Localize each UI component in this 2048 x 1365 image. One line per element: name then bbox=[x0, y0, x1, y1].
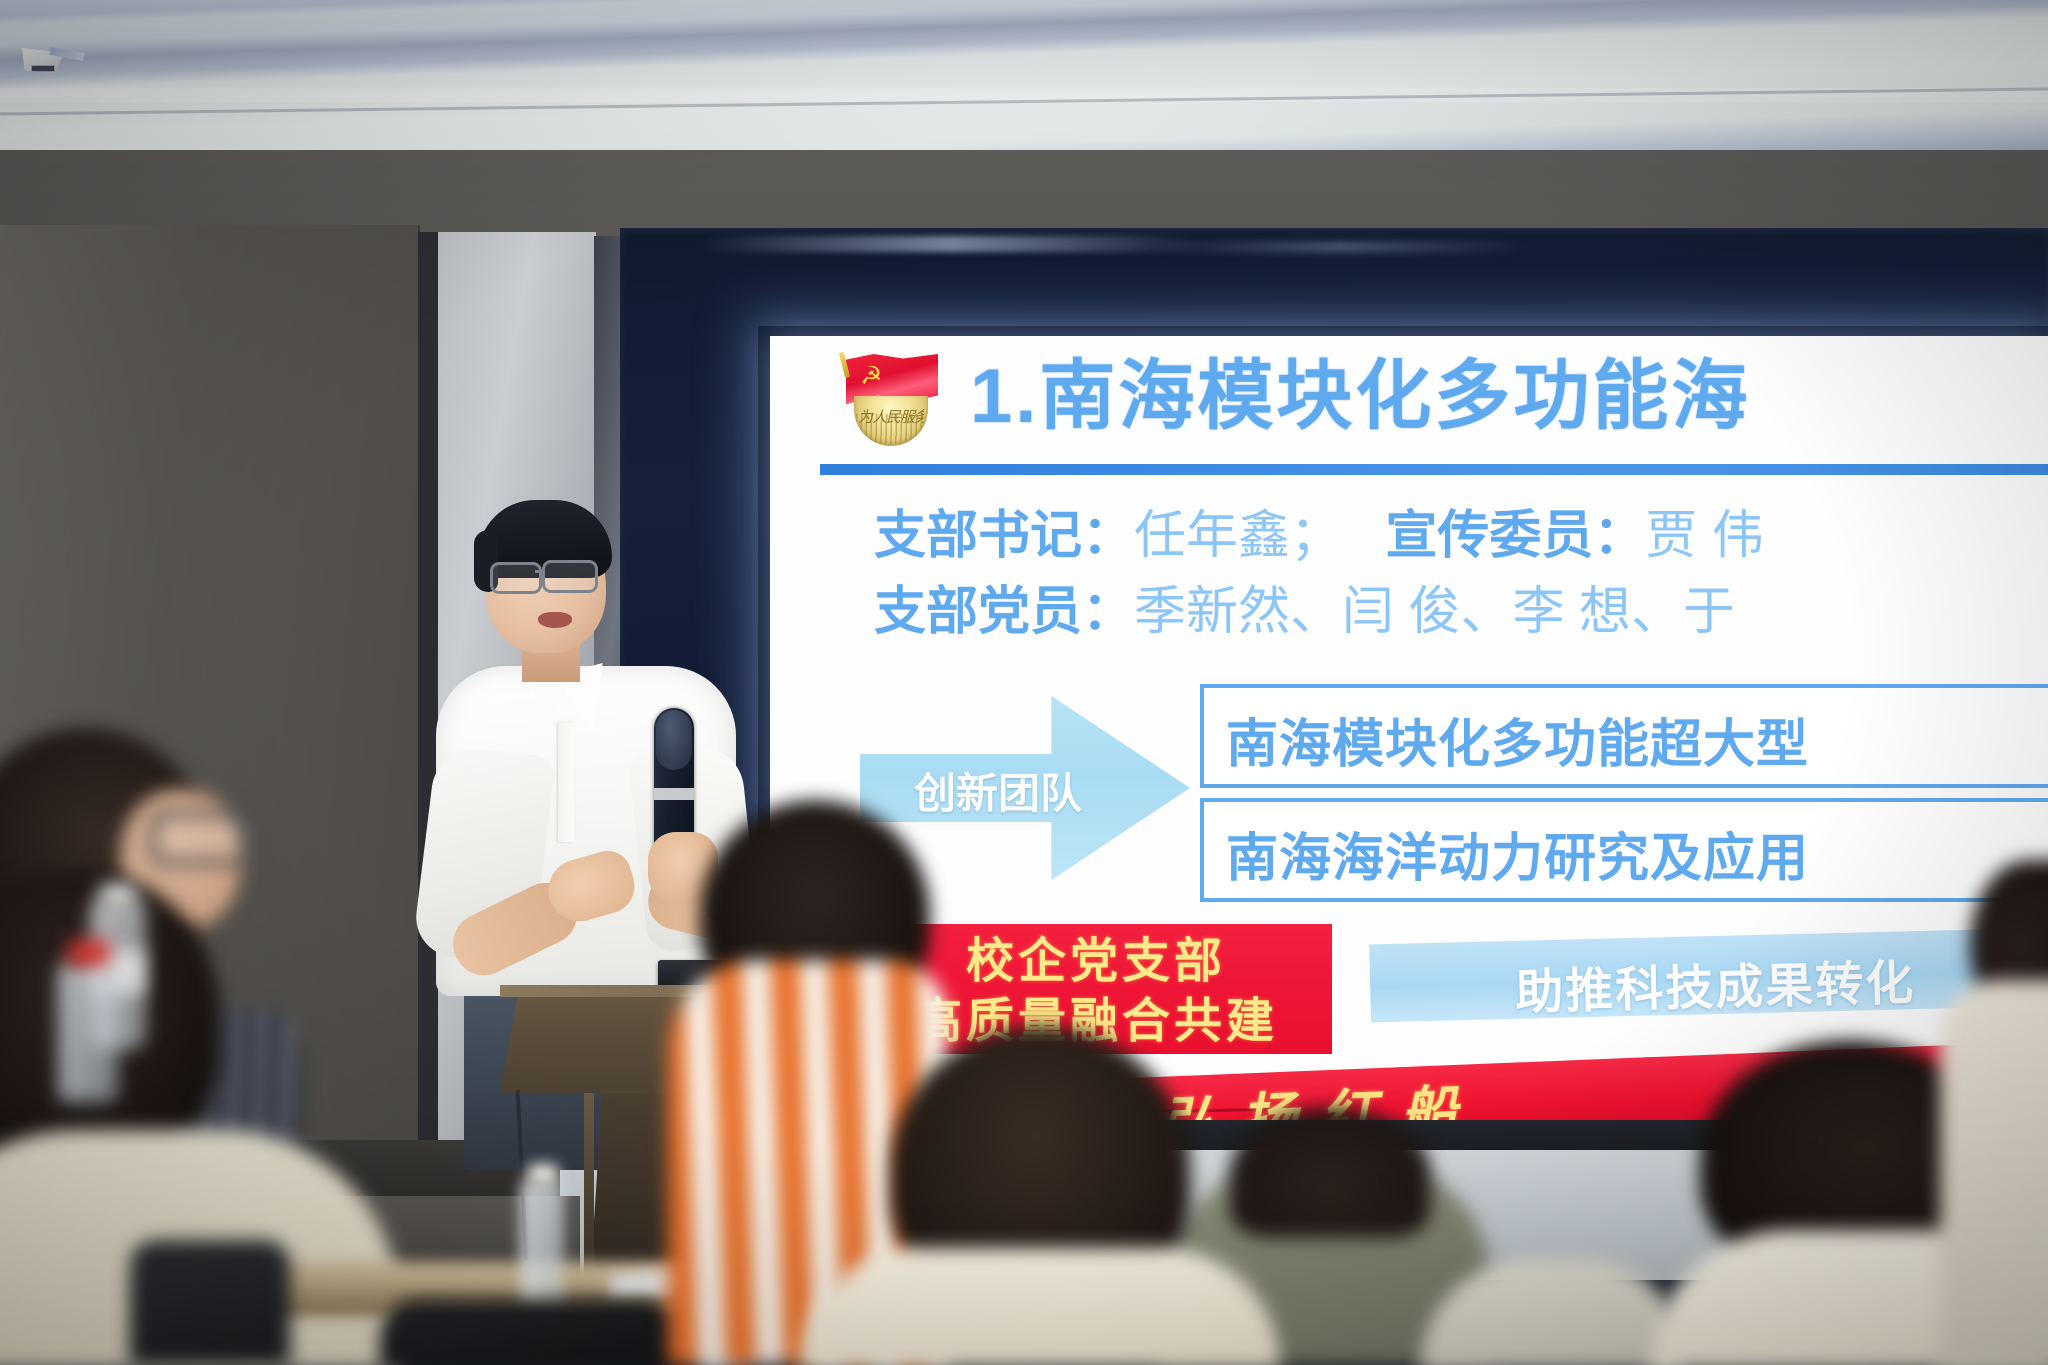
topic-box-1-text: 南海模块化多功能超大型 bbox=[1226, 702, 1809, 777]
audience-shirt-center-2 bbox=[800, 1248, 1280, 1365]
roster-value-secretary: 任年鑫； bbox=[1134, 507, 1342, 565]
eyeglasses-left-lens-icon bbox=[490, 562, 542, 594]
blue-banner-block: 助推科技成果转化 bbox=[1369, 928, 2048, 1023]
audience-head-center-3 bbox=[1230, 1108, 1430, 1238]
presenter-mouth bbox=[538, 612, 572, 628]
roster-block: 支部书记：任年鑫； 宣传委员：贾 伟 支部党员：季新然、闫 俊、李 想、于 bbox=[874, 498, 2048, 650]
medal-script-text: 为人民服务 bbox=[858, 406, 924, 428]
topic-box-1: 南海模块化多功能超大型 bbox=[1200, 684, 2048, 788]
roster-label-publicity: 宣传委员： bbox=[1385, 507, 1645, 565]
roster-row-secretary: 支部书记：任年鑫； 宣传委员：贾 伟 bbox=[874, 498, 2048, 574]
housing-glint-secondary bbox=[1150, 242, 1530, 252]
cpc-party-emblem-flag-logo: ☭ 为人民服务 bbox=[834, 350, 942, 450]
roster-value-publicity: 贾 伟 bbox=[1645, 507, 1763, 565]
slide-title: 1.南海模块化多功能海 bbox=[970, 348, 1750, 446]
chair-left bbox=[130, 1240, 290, 1365]
eyeglasses-right-lens-icon bbox=[542, 560, 598, 593]
topic-box-2: 南海海洋动力研究及应用 bbox=[1200, 798, 2048, 902]
housing-glint bbox=[700, 236, 1200, 252]
roster-label-members: 支部党员： bbox=[874, 583, 1134, 641]
presenter-shirt-placket bbox=[558, 722, 574, 842]
topic-box-2-text: 南海海洋动力研究及应用 bbox=[1226, 816, 1809, 891]
water-bottle-table-1 bbox=[520, 1180, 564, 1310]
water-bottle-left-1-cap bbox=[100, 884, 136, 906]
podium-column-edge bbox=[584, 1090, 594, 1286]
microphone-grill bbox=[656, 710, 692, 770]
water-bottle-left-2-cap bbox=[68, 940, 110, 966]
water-bottle-left-2 bbox=[58, 962, 118, 1102]
roster-row-members: 支部党员：季新然、闫 俊、李 想、于 bbox=[874, 574, 2048, 650]
chair-center bbox=[380, 1300, 680, 1365]
hammer-sickle-icon: ☭ bbox=[860, 364, 888, 390]
title-underline-rule bbox=[820, 464, 2048, 475]
audience-eyeglasses-left-1-icon bbox=[150, 810, 254, 866]
roster-value-members: 季新然、闫 俊、李 想、于 bbox=[1134, 583, 1735, 641]
eyeglasses-bridge-icon bbox=[535, 570, 545, 573]
audience-body-right-3 bbox=[1940, 980, 2048, 1365]
screenshot-root: ☭ 为人民服务 1.南海模块化多功能海 支部书记：任年鑫； 宣传委员：贾 伟 支… bbox=[0, 0, 2048, 1365]
microphone-band bbox=[654, 788, 694, 800]
arrow-label: 创新团队 bbox=[898, 760, 1098, 821]
roster-label-secretary: 支部书记： bbox=[874, 507, 1134, 565]
water-bottle-table-1-cap bbox=[528, 1164, 558, 1184]
slide-title-row: ☭ 为人民服务 1.南海模块化多功能海 bbox=[770, 336, 2048, 458]
